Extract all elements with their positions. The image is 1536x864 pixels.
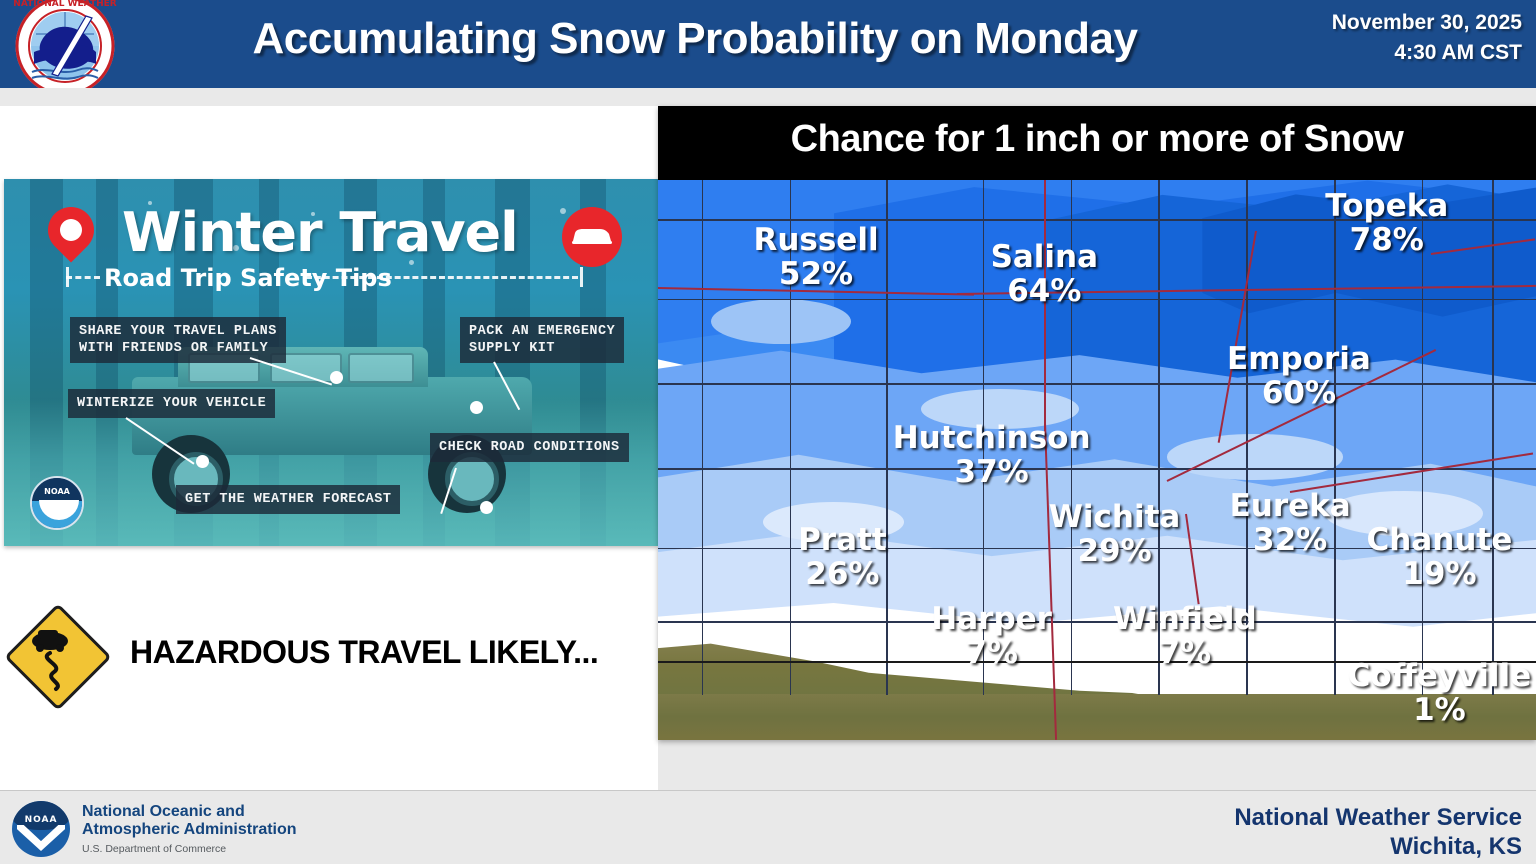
city-value: 60% <box>1227 378 1371 409</box>
city-name: Hutchinson <box>893 423 1091 454</box>
city-label-salina: Salina 64% <box>991 242 1099 307</box>
nws-office: National Weather Service Wichita, KS <box>1234 803 1522 861</box>
city-label-hutchinson: Hutchinson 37% <box>893 423 1091 488</box>
city-name: Wichita <box>1049 502 1181 533</box>
callout-share-travel-plans: SHARE YOUR TRAVEL PLANS WITH FRIENDS OR … <box>70 317 286 363</box>
city-label-chanute: Chanute 19% <box>1367 525 1513 590</box>
city-name: Pratt <box>798 525 887 556</box>
car-icon <box>562 207 622 267</box>
callout-winterize-vehicle: WINTERIZE YOUR VEHICLE <box>68 389 275 418</box>
hazard-travel-row: HAZARDOUS TRAVEL LIKELY... <box>0 606 640 706</box>
city-label-wichita: Wichita 29% <box>1049 502 1181 567</box>
callout-pack-emergency-kit: PACK AN EMERGENCY SUPPLY KIT <box>460 317 624 363</box>
noaa-department: U.S. Department of Commerce <box>82 843 226 855</box>
noaa-badge-label: NOAA <box>32 487 82 496</box>
header-datetime: November 30, 2025 4:30 AM CST <box>1222 8 1522 68</box>
map-title-bar: Chance for 1 inch or more of Snow <box>658 106 1536 180</box>
city-name: Topeka <box>1325 191 1448 222</box>
city-value: 1% <box>1348 695 1532 726</box>
winter-travel-infographic: Winter Travel Road Trip Safety Tips SHAR… <box>4 179 658 546</box>
city-name: Coffeyville <box>1348 661 1532 692</box>
noaa-logo-icon: NOAA <box>12 801 70 857</box>
header-date: November 30, 2025 <box>1222 8 1522 38</box>
noaa-agency-line1: National Oceanic and <box>82 803 297 821</box>
city-label-harper: Harper 7% <box>931 604 1052 669</box>
city-value: 7% <box>931 638 1052 669</box>
city-value: 52% <box>753 259 878 290</box>
city-label-pratt: Pratt 26% <box>798 525 887 590</box>
city-name: Emporia <box>1227 344 1371 375</box>
city-name: Winfield <box>1113 604 1257 635</box>
city-name: Eureka <box>1230 491 1351 522</box>
noaa-agency-name: National Oceanic and Atmospheric Adminis… <box>82 803 297 839</box>
winter-travel-title: Winter Travel <box>122 201 518 264</box>
city-value: 7% <box>1113 638 1257 669</box>
city-label-topeka: Topeka 78% <box>1325 191 1448 256</box>
city-value: 37% <box>893 457 1091 488</box>
map-title: Chance for 1 inch or more of Snow <box>658 118 1536 161</box>
nws-office-location: Wichita, KS <box>1234 832 1522 861</box>
nws-seal-icon: NATIONAL WEATHER SERVICE <box>6 0 124 102</box>
page-footer: NOAA National Oceanic and Atmospheric Ad… <box>0 790 1536 864</box>
city-value: 19% <box>1367 559 1513 590</box>
top-gray-strip <box>0 88 1536 106</box>
noaa-badge-icon: NOAA <box>30 476 84 530</box>
svg-text:NATIONAL WEATHER: NATIONAL WEATHER <box>13 0 116 9</box>
city-label-eureka: Eureka 32% <box>1230 491 1351 556</box>
city-value: 78% <box>1325 225 1448 256</box>
city-label-russell: Russell 52% <box>753 225 878 290</box>
hazard-travel-text: HAZARDOUS TRAVEL LIKELY... <box>130 634 598 671</box>
city-name: Harper <box>931 604 1052 635</box>
map-canvas: Russell 52% Salina 64% Topeka 78% Empori… <box>658 174 1536 740</box>
city-value: 32% <box>1230 525 1351 556</box>
callout-check-road-conditions: CHECK ROAD CONDITIONS <box>430 433 629 462</box>
city-label-emporia: Emporia 60% <box>1227 344 1371 409</box>
snow-probability-map[interactable]: Chance for 1 inch or more of Snow <box>658 106 1536 740</box>
city-label-coffeyville: Coffeyville 1% <box>1348 661 1532 726</box>
city-name: Chanute <box>1367 525 1513 556</box>
page-title: Accumulating Snow Probability on Monday <box>160 8 1230 70</box>
noaa-agency-line2: Atmospheric Administration <box>82 821 297 839</box>
city-label-winfield: Winfield 7% <box>1113 604 1257 669</box>
nws-office-name: National Weather Service <box>1234 803 1522 832</box>
callout-get-weather-forecast: GET THE WEATHER FORECAST <box>176 485 400 514</box>
noaa-logo-label: NOAA <box>12 815 70 825</box>
city-value: 26% <box>798 559 887 590</box>
header-time: 4:30 AM CST <box>1222 38 1522 68</box>
city-name: Russell <box>753 225 878 256</box>
slippery-road-sign-icon <box>10 609 106 705</box>
city-value: 64% <box>991 276 1099 307</box>
city-name: Salina <box>991 242 1099 273</box>
page-header: NATIONAL WEATHER SERVICE Accumulating Sn… <box>0 0 1536 88</box>
city-value: 29% <box>1049 536 1181 567</box>
